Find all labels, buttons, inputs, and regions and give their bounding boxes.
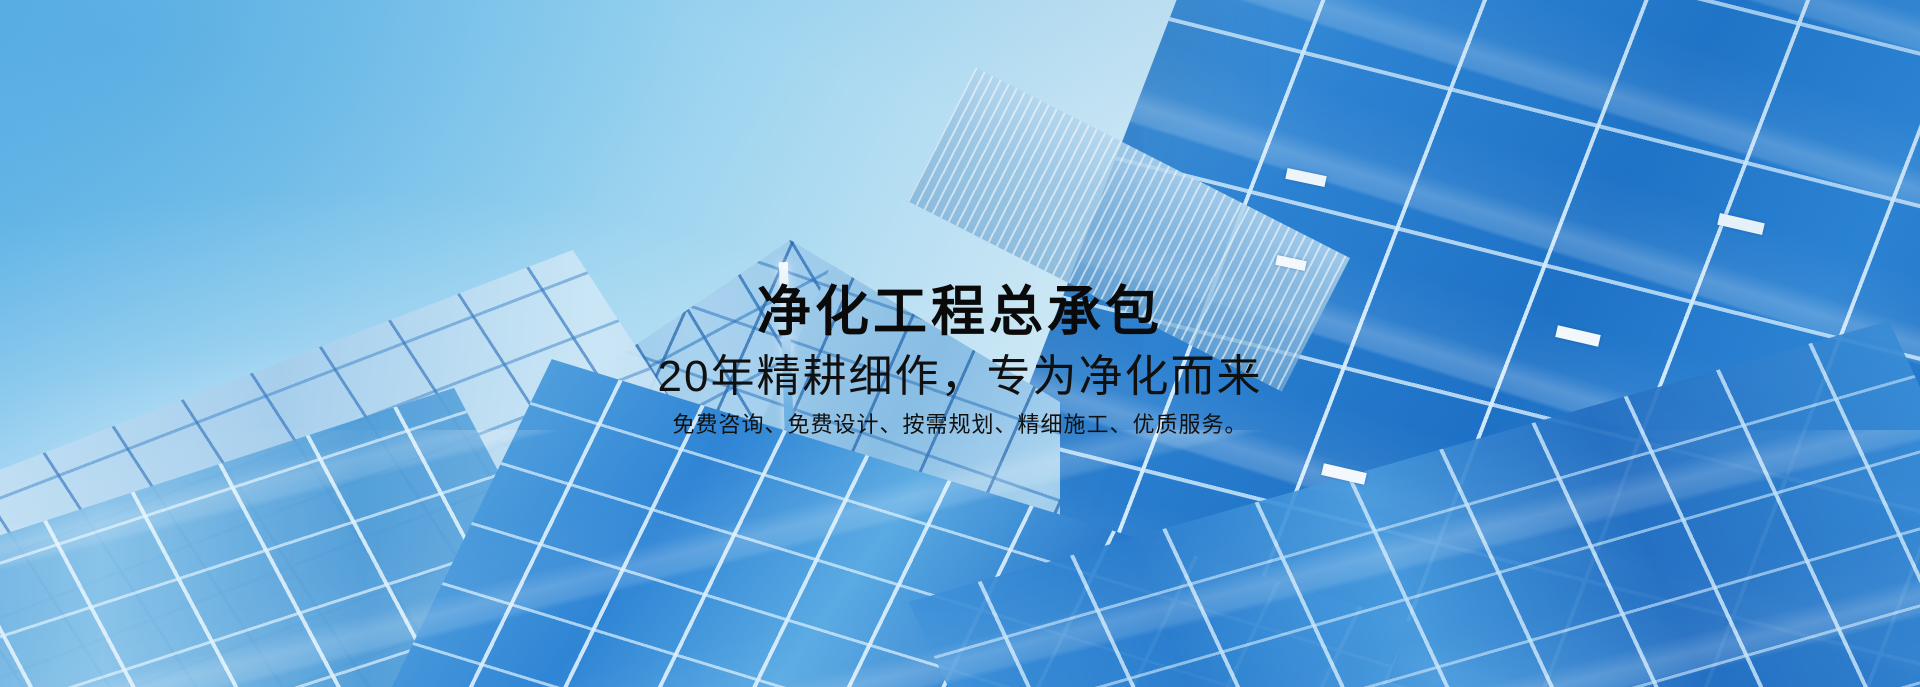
- banner-tagline: 免费咨询、免费设计、按需规划、精细施工、优质服务。: [500, 411, 1420, 440]
- banner-subheadline: 20年精耕细作，专为净化而来: [500, 352, 1420, 403]
- banner-copy-block: 净化工程总承包 20年精耕细作，专为净化而来 免费咨询、免费设计、按需规划、精细…: [500, 282, 1420, 440]
- banner-headline: 净化工程总承包: [500, 282, 1420, 342]
- hero-banner: 净化工程总承包 20年精耕细作，专为净化而来 免费咨询、免费设计、按需规划、精细…: [0, 0, 1920, 687]
